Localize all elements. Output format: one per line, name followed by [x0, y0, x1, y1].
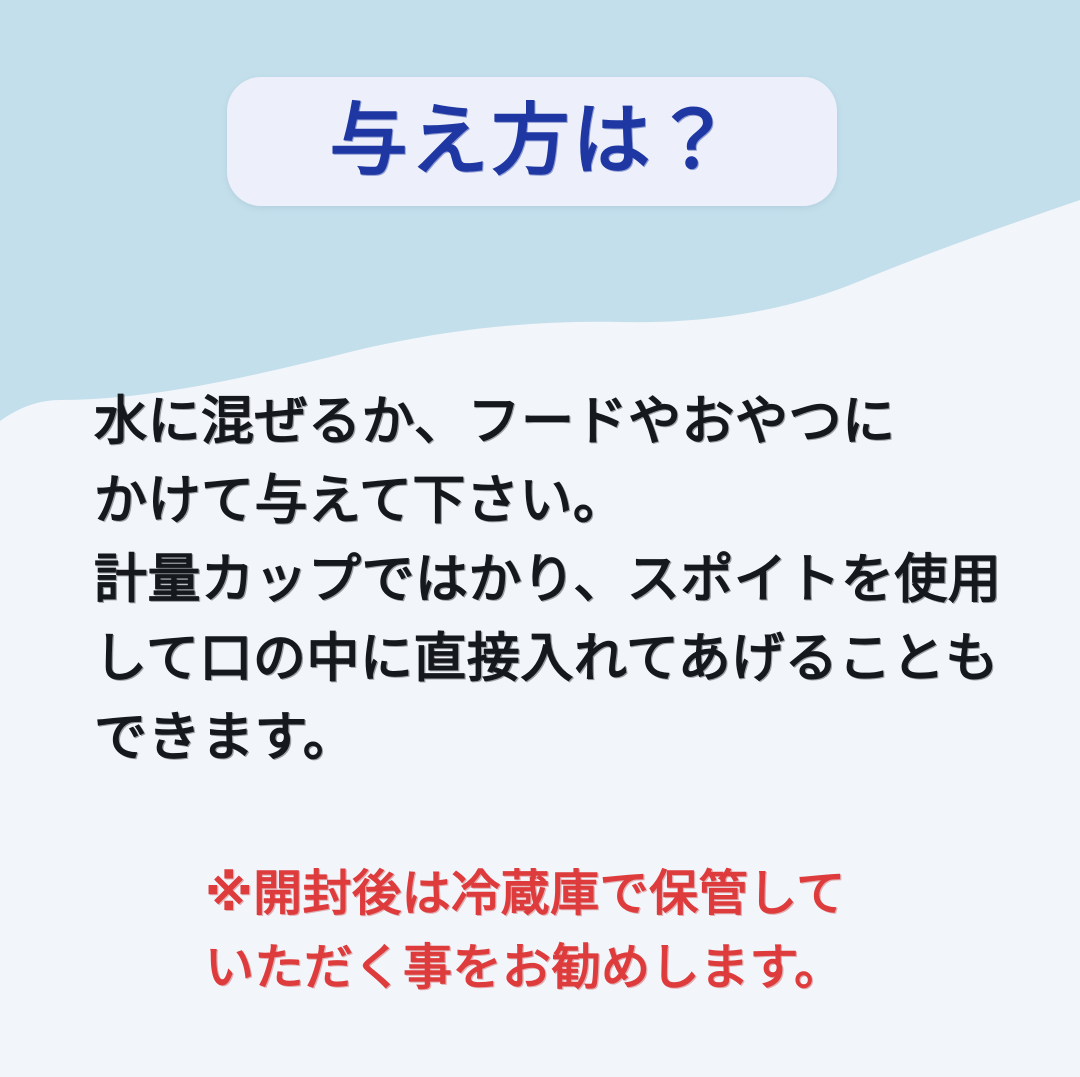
- storage-notice-line-1: ※開封後は冷蔵庫で保管して: [205, 857, 1055, 931]
- instruction-line-4: して口の中に直接入れてあげることも: [94, 619, 1024, 698]
- page-title: 与え方は？: [329, 101, 734, 179]
- storage-notice-block: ※開封後は冷蔵庫で保管して いただく事をお勧めします。: [205, 857, 1055, 1005]
- instruction-line-1: 水に混ぜるか、フードやおやつに: [94, 382, 1024, 461]
- title-pill: 与え方は？: [227, 77, 837, 206]
- storage-notice-line-2: いただく事をお勧めします。: [205, 931, 1055, 1005]
- instruction-line-2: かけて与えて下さい。: [94, 461, 1024, 540]
- instruction-line-5: できます。: [94, 698, 1024, 777]
- instruction-text-block: 水に混ぜるか、フードやおやつに かけて与えて下さい。 計量カップではかり、スポイ…: [94, 382, 1024, 777]
- instruction-line-3: 計量カップではかり、スポイトを使用: [94, 540, 1024, 619]
- poster-canvas: 与え方は？ 水に混ぜるか、フードやおやつに かけて与えて下さい。 計量カップでは…: [0, 0, 1080, 1077]
